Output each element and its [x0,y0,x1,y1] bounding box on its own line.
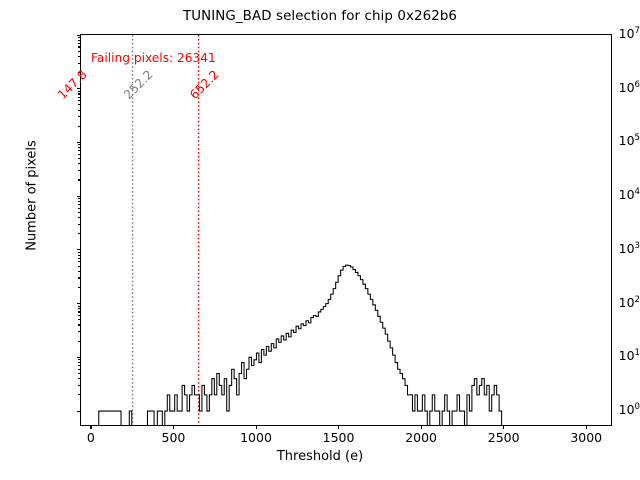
chart-title: TUNING_BAD selection for chip 0x262b6 [0,9,640,24]
x-axis-label: Threshold (e) [0,449,640,464]
figure-canvas: TUNING_BAD selection for chip 0x262b6 Nu… [0,0,640,480]
plot-area [80,34,612,426]
x-tick-label: 2500 [488,430,520,445]
y-axis-label: Number of pixels [25,46,40,346]
failing-pixels-annotation: Failing pixels: 26341 [91,51,216,65]
x-tick-label: 1000 [240,430,272,445]
x-tick-label: 2000 [405,430,437,445]
x-tick-label: 500 [162,430,186,445]
x-tick-label: 0 [87,430,95,445]
x-tick-label: 3000 [570,430,602,445]
plot-svg [81,35,611,425]
x-tick-label: 1500 [323,430,355,445]
histogram-trace [99,265,509,425]
